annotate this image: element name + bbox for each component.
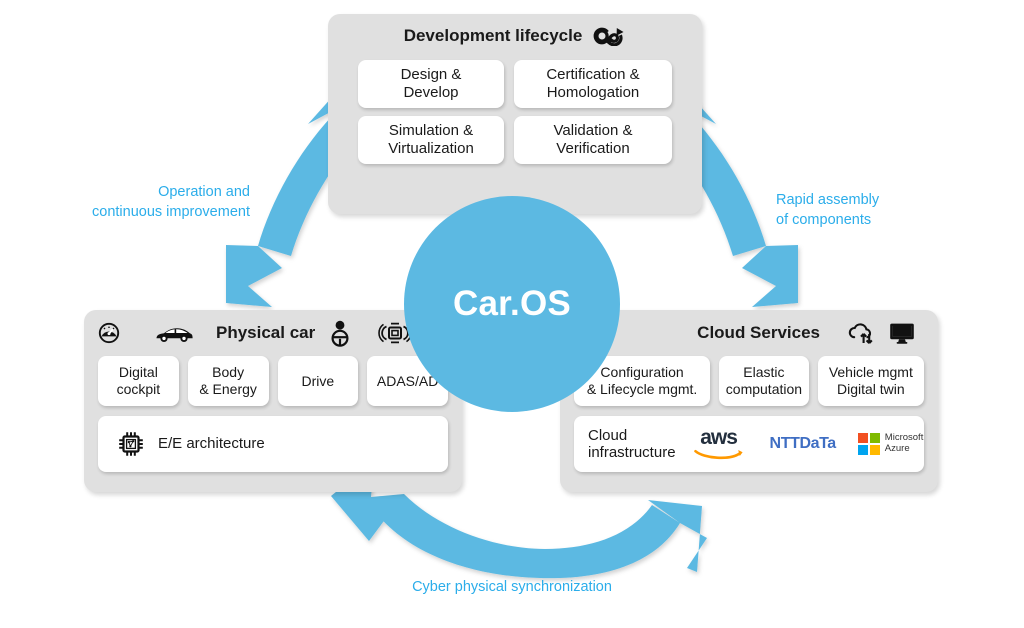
cloud-infrastructure-label: Cloud infrastructure bbox=[588, 427, 676, 462]
development-lifecycle-title: Development lifecycle bbox=[404, 26, 583, 46]
chip-drive[interactable]: Drive bbox=[278, 356, 359, 406]
development-lifecycle-header: Development lifecycle bbox=[328, 14, 702, 58]
infinity-devops-icon bbox=[592, 26, 626, 46]
monitor-icon bbox=[888, 321, 916, 345]
chip-digital-cockpit[interactable]: Digital cockpit bbox=[98, 356, 179, 406]
cloud-services-panel: Cloud Services bbox=[560, 310, 938, 492]
rapid-assembly-caption: Rapid assembly of components bbox=[776, 191, 966, 230]
operation-improvement-caption: Operation and continuous improvement bbox=[56, 183, 250, 222]
speedometer-icon bbox=[98, 322, 120, 344]
microsoft-squares-icon bbox=[858, 433, 880, 455]
chip-design-develop[interactable]: Design & Develop bbox=[358, 60, 504, 108]
car-os-circle: Car.OS bbox=[404, 196, 620, 412]
aws-logo: aws bbox=[690, 427, 748, 461]
cloud-provider-logos: aws NTTDaTa Microsoft Azure bbox=[690, 427, 924, 461]
azure-wordmark: Azure bbox=[885, 444, 924, 455]
cyber-physical-sync-caption: Cyber physical synchronization bbox=[332, 578, 692, 598]
chip-certification-homologation[interactable]: Certification & Homologation bbox=[514, 60, 672, 108]
car-side-icon bbox=[154, 323, 194, 343]
chip-simulation-virtualization[interactable]: Simulation & Virtualization bbox=[358, 116, 504, 164]
chip-vehicle-mgmt-digital-twin[interactable]: Vehicle mgmt Digital twin bbox=[818, 356, 924, 406]
cloud-infrastructure-bar[interactable]: Cloud infrastructure aws NTTDaTa bbox=[574, 416, 924, 472]
physical-car-items: Digital cockpit Body & Energy Drive ADAS… bbox=[84, 356, 462, 406]
diagram-canvas: upper-right --> lower-right (mirror of l… bbox=[0, 0, 1024, 628]
development-lifecycle-items: Design & Develop Certification & Homolog… bbox=[328, 58, 702, 164]
cloud-sync-icon bbox=[846, 320, 876, 346]
car-os-label: Car.OS bbox=[453, 284, 571, 324]
physical-car-panel: Physical car bbox=[84, 310, 462, 492]
microchip-icon bbox=[116, 429, 146, 459]
driver-steering-wheel-icon bbox=[329, 319, 351, 347]
ntt-data-logo: NTTDaTa bbox=[770, 435, 836, 453]
cloud-services-title: Cloud Services bbox=[697, 323, 820, 343]
microsoft-azure-logo: Microsoft Azure bbox=[858, 433, 924, 455]
chip-validation-verification[interactable]: Validation & Verification bbox=[514, 116, 672, 164]
ee-architecture-bar[interactable]: E/E architecture bbox=[98, 416, 448, 472]
chip-body-energy[interactable]: Body & Energy bbox=[188, 356, 269, 406]
ee-architecture-label: E/E architecture bbox=[158, 435, 265, 452]
aws-smile-icon bbox=[694, 448, 744, 461]
development-lifecycle-panel: Development lifecycle Design & Develop C… bbox=[328, 14, 702, 214]
cloud-services-items: Configuration & Lifecycle mgmt. Elastic … bbox=[560, 356, 938, 406]
physical-car-title: Physical car bbox=[216, 323, 315, 343]
chip-elastic-computation[interactable]: Elastic computation bbox=[719, 356, 809, 406]
